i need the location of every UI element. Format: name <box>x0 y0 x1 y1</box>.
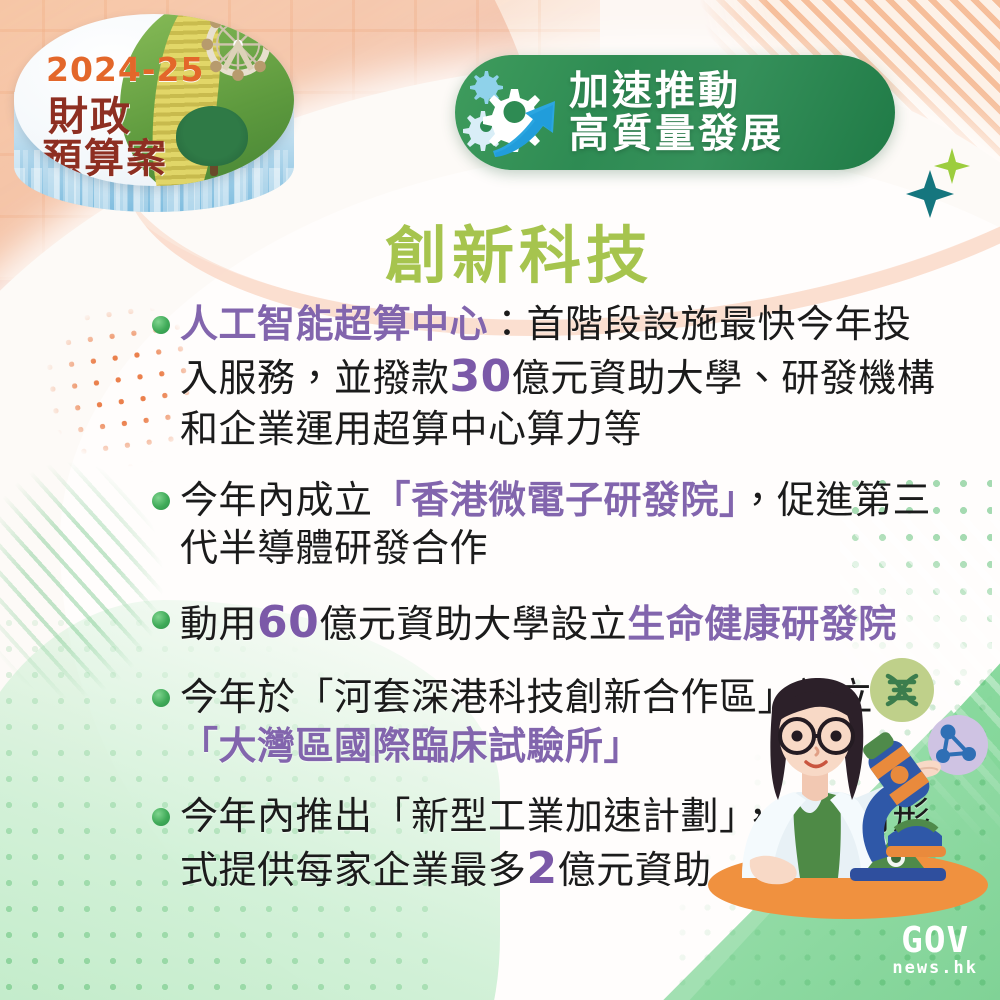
budget-badge: 2024-25 財政 預算案 <box>6 0 316 228</box>
highlight-term: 人工智能超算中心 <box>180 302 488 346</box>
bullet-dot-icon <box>152 611 170 629</box>
bullet-text-run: 動用 <box>180 602 257 646</box>
bullet-text: 動用60億元資助大學設立生命健康研發院 <box>180 595 897 651</box>
infographic-poster: 2024-25 財政 預算案 <box>0 0 1000 1000</box>
badge-title-line2: 預算案 <box>42 126 168 184</box>
bullet-text-run: 億元資助大學設立 <box>319 602 627 646</box>
bullet-dot-icon <box>152 808 170 826</box>
highlight-term: 「大灣區國際臨床試驗所」 <box>180 724 642 768</box>
banner-text: 加速推動 高質量發展 <box>569 70 784 155</box>
amount-figure: 60 <box>257 597 319 648</box>
bullet-item: 人工智能超算中心：首階段設施最快今年投入服務，並撥款30億元資助大學、研發機構和… <box>152 300 942 454</box>
dna-helix-icon <box>870 658 934 722</box>
tree-icon <box>176 106 248 166</box>
bullet-text-run: 今年內成立 <box>180 478 373 522</box>
bullet-text: 人工智能超算中心：首階段設施最快今年投入服務，並撥款30億元資助大學、研發機構和… <box>180 300 942 454</box>
bullet-dot-icon <box>152 492 170 510</box>
bullet-text-run: 億元資助 <box>558 848 712 892</box>
theme-banner: 加速推動 高質量發展 <box>455 55 895 170</box>
bullet-item: 今年內成立「香港微電子研發院」，促進第三代半導體研發合作 <box>152 476 942 573</box>
amount-figure: 2 <box>527 843 558 894</box>
bullet-text: 今年內成立「香港微電子研發院」，促進第三代半導體研發合作 <box>180 476 942 573</box>
banner-line1: 加速推動 <box>569 70 784 112</box>
badge-disc-top: 2024-25 財政 預算案 <box>14 14 294 186</box>
bullet-item: 動用60億元資助大學設立生命健康研發院 <box>152 595 942 651</box>
highlight-term: 「香港微電子研發院」 <box>373 478 739 522</box>
page-title: 創新科技 <box>385 205 653 295</box>
banner-line2: 高質量發展 <box>569 113 784 155</box>
highlight-term: 生命健康研發院 <box>627 602 897 646</box>
govnews-logo: GOV news.hk <box>892 924 978 978</box>
logo-line2: news.hk <box>892 958 978 978</box>
logo-line1: GOV <box>892 924 978 958</box>
bullet-dot-icon <box>152 316 170 334</box>
bullet-dot-icon <box>152 689 170 707</box>
gears-growth-arrow-icon <box>455 63 575 163</box>
amount-figure: 30 <box>450 351 512 402</box>
sparkle-stars-icon <box>900 140 990 220</box>
female-scientist-with-microscope <box>690 650 1000 940</box>
